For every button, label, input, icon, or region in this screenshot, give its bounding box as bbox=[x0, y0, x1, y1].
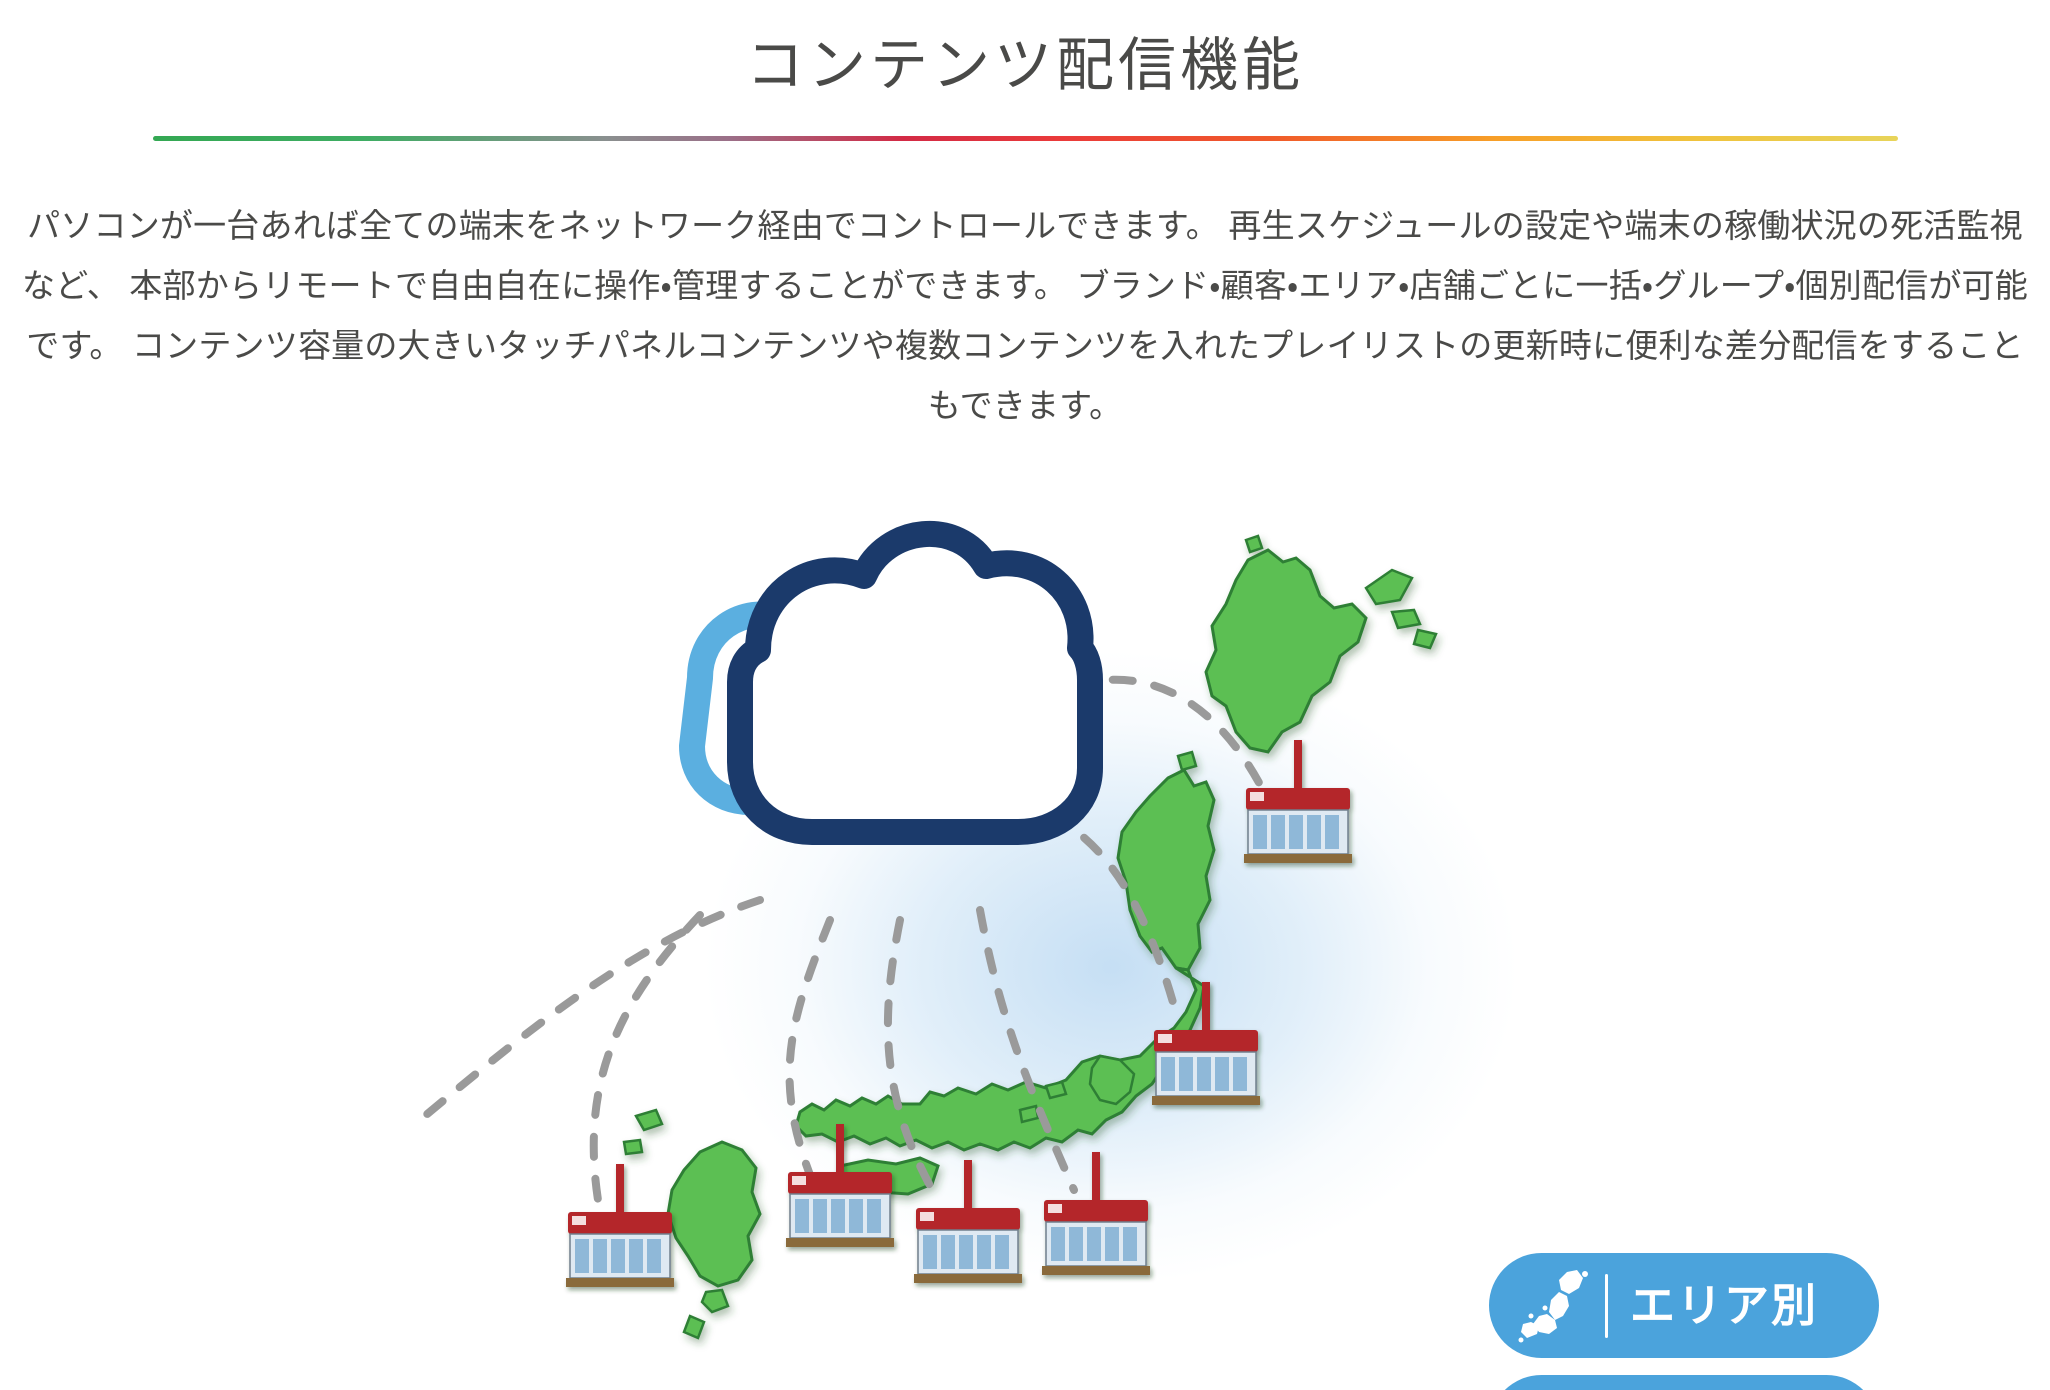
pill-divider bbox=[1605, 1274, 1608, 1338]
store-icon bbox=[1042, 1152, 1150, 1275]
pill-label-area: エリア別 bbox=[1630, 1283, 1818, 1328]
title-gradient-divider bbox=[153, 136, 1898, 141]
content-distribution-page: コンテンツ配信機能 パソコンが一台あれば全ての端末をネットワーク経由でコントロー… bbox=[0, 0, 2050, 1390]
store-icon bbox=[1244, 740, 1352, 863]
distribution-filter-list: エリア別 時間帯別 bbox=[1489, 1253, 1879, 1390]
pill-area[interactable]: エリア別 bbox=[1489, 1253, 1879, 1358]
cloud-logo-mark bbox=[692, 534, 1090, 832]
connector-to-kyushu bbox=[594, 915, 700, 1200]
connector-to-chugoku bbox=[790, 920, 830, 1190]
connector-to-west bbox=[420, 900, 760, 1120]
intro-paragraph: パソコンが一台あれば全ての端末をネットワーク経由でコントロールできます。 再生ス… bbox=[20, 196, 2030, 436]
distribution-diagram: POPmate Cloud 本部からリモートで自由自在に 操作・管理が可能です!… bbox=[0, 500, 2050, 1390]
japan-map-icon bbox=[1509, 1266, 1601, 1346]
store-icon bbox=[1152, 982, 1260, 1105]
connector-to-kansai bbox=[888, 920, 938, 1200]
cloud-front-outline bbox=[740, 534, 1090, 832]
pill-time[interactable]: 時間帯別 bbox=[1489, 1375, 1879, 1390]
store-icon bbox=[566, 1164, 674, 1287]
page-title: コンテンツ配信機能 bbox=[0, 0, 2050, 103]
